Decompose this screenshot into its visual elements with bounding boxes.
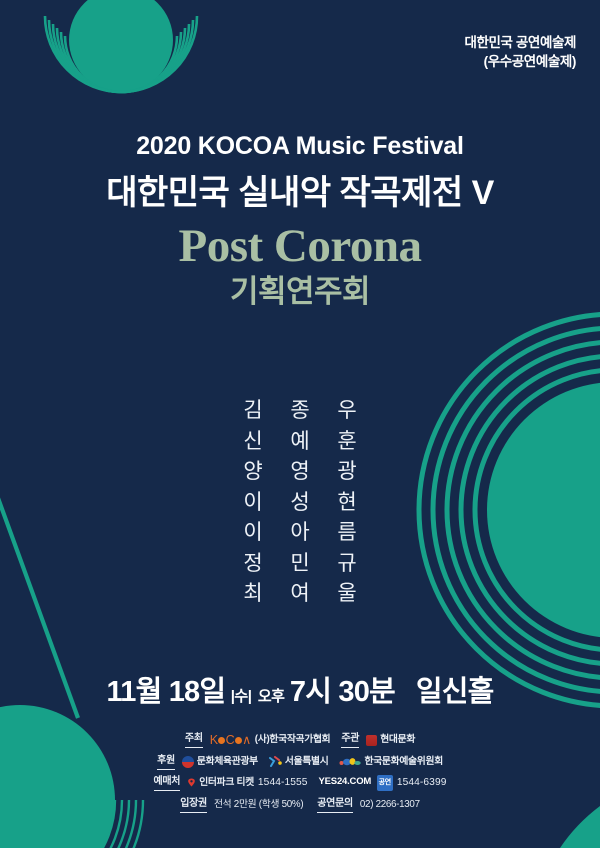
composer-syllable: 정	[242, 549, 264, 580]
composer-syllable: 김	[242, 396, 264, 427]
composer-syllable: 종	[289, 396, 311, 427]
composer-name: 최 여 울	[242, 579, 358, 610]
english-title: 2020 KOCOA Music Festival	[0, 134, 600, 159]
hyundai-munhwa-logo-icon	[366, 735, 377, 746]
credit-text: (사)한국작곡가협회	[255, 733, 331, 747]
composer-syllable: 아	[289, 518, 311, 549]
kocoa-logo-icon: KC∧	[210, 733, 251, 747]
performance-dateline: 11월 18일 |수| 오후 7시 30분 일신홀	[0, 668, 600, 710]
composer-name: 양 영 광	[242, 457, 358, 488]
composer-syllable: 예	[289, 427, 311, 458]
credit-item-kocoa: KC∧ (사)한국작곡가협회	[210, 733, 331, 747]
credit-item-seoul: 서울특별시	[269, 755, 329, 769]
composer-name: 신 예 훈	[242, 427, 358, 458]
credit-label-host: 주최	[185, 732, 203, 748]
credit-text: 문화체육관광부	[197, 755, 258, 769]
title-block: 2020 KOCOA Music Festival 대한민국 실내악 작곡제전 …	[0, 134, 600, 307]
date-month-day: 11월 18일	[107, 676, 226, 708]
credit-item-interpark[interactable]: 인터파크 티켓 1544-1555	[187, 776, 307, 790]
korean-title: 대한민국 실내악 작곡제전 V	[0, 176, 600, 210]
credit-item-mcst: 문화체육관광부	[182, 755, 258, 769]
yes24-logo-icon: YES24.COM 공연	[319, 775, 393, 791]
credit-text: 현대문화	[380, 733, 415, 747]
credit-text: 인터파크 티켓	[199, 776, 254, 790]
credits-footer: 주최 KC∧ (사)한국작곡가협회 주관 현대문화 후원 문화체육관광부	[0, 732, 600, 813]
theme-title: Post Corona	[0, 223, 600, 270]
inquiry-phone: 02) 2266-1307	[360, 798, 420, 812]
composer-syllable: 현	[336, 488, 358, 519]
credit-phone: 1544-1555	[258, 776, 308, 790]
date-weekday: |수|	[230, 688, 253, 705]
credit-item-yes24[interactable]: YES24.COM 공연 1544-6399	[319, 775, 447, 791]
composer-syllable: 민	[289, 549, 311, 580]
mcst-logo-icon	[182, 756, 194, 768]
ticket-price: 전석 2만원 (학생 50%)	[214, 798, 303, 812]
credit-label-ticketing: 예매처	[154, 775, 181, 791]
yes24-badge: 공연	[377, 775, 393, 791]
credit-text: 한국문화예술위원회	[364, 755, 442, 769]
arko-logo-icon	[339, 757, 361, 767]
credit-label-admission: 입장권	[180, 797, 207, 813]
seoul-logo-icon	[269, 756, 282, 767]
credit-label-sponsor: 후원	[157, 754, 175, 770]
credit-phone: 1544-6399	[397, 776, 447, 790]
credit-row-host: 주최 KC∧ (사)한국작곡가협회 주관 현대문화	[185, 732, 415, 748]
credit-label-inquiry: 공연문의	[317, 797, 353, 813]
composer-syllable: 이	[242, 518, 264, 549]
festival-badge: 대한민국 공연예술제 (우수공연예술제)	[464, 33, 576, 71]
composer-syllable: 이	[242, 488, 264, 519]
venue-name: 일신홀	[416, 676, 494, 708]
date-time: 7시 30분	[290, 676, 395, 708]
credit-label-organizer: 주관	[341, 732, 359, 748]
composer-syllable: 규	[336, 549, 358, 580]
interpark-logo-icon	[187, 778, 196, 789]
credit-row-admission: 입장권 전석 2만원 (학생 50%) 공연문의 02) 2266-1307	[180, 797, 419, 813]
credit-row-sponsor: 후원 문화체육관광부 서울특별시	[157, 754, 443, 770]
credit-item-hyundai-munhwa: 현대문화	[366, 733, 415, 747]
composer-syllable: 름	[336, 518, 358, 549]
concert-poster: 대한민국 공연예술제 (우수공연예술제) 2020 KOCOA Music Fe…	[0, 0, 600, 848]
credit-item-arko: 한국문화예술위원회	[339, 755, 442, 769]
composer-syllable: 양	[242, 457, 264, 488]
date-ampm: 오후	[257, 688, 286, 705]
composer-syllable: 성	[289, 488, 311, 519]
composer-syllable: 훈	[336, 427, 358, 458]
composer-name: 정 민 규	[242, 549, 358, 580]
subtitle: 기획연주회	[0, 276, 600, 307]
yes24-brand-text: YES24.COM	[319, 776, 372, 787]
composer-syllable: 광	[336, 457, 358, 488]
composer-syllable: 여	[289, 579, 311, 610]
composer-syllable: 울	[336, 579, 358, 610]
credit-text: 서울특별시	[285, 755, 329, 769]
composer-list: 김 종 우 신 예 훈 양 영 광 이 성 현 이 아 름	[0, 396, 600, 610]
credit-row-ticketing: 예매처 인터파크 티켓 1544-1555 YES24.COM 공연	[154, 775, 447, 791]
composer-syllable: 신	[242, 427, 264, 458]
composer-syllable: 영	[289, 457, 311, 488]
composer-syllable: 최	[242, 579, 264, 610]
composer-name: 이 아 름	[242, 518, 358, 549]
composer-name: 김 종 우	[242, 396, 358, 427]
composer-syllable: 우	[336, 396, 358, 427]
composer-name: 이 성 현	[242, 488, 358, 519]
